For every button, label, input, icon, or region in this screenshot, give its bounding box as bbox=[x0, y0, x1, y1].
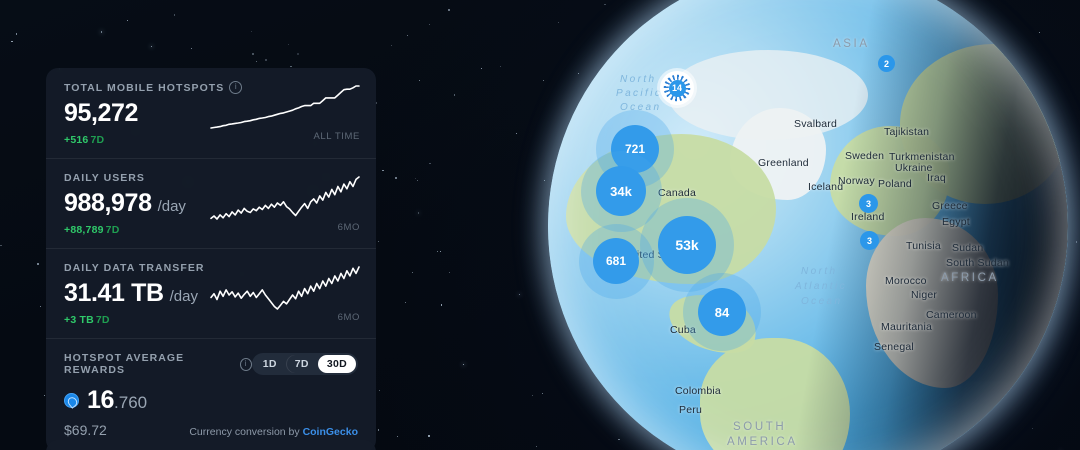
credit-prefix: Currency conversion by bbox=[189, 426, 302, 438]
hotspot-cluster-3[interactable]: 3 bbox=[860, 231, 879, 250]
sparkline-daily-data-transfer: 6MO bbox=[210, 263, 360, 321]
hotspot-cluster-53k[interactable]: 53k bbox=[658, 216, 716, 274]
stat-delta-period: 7D bbox=[96, 314, 110, 326]
star bbox=[379, 390, 380, 391]
map-label-greece: Greece bbox=[932, 200, 968, 212]
range-option-1d[interactable]: 1D bbox=[254, 355, 286, 373]
star bbox=[415, 178, 416, 179]
stat-unit: /day bbox=[170, 288, 198, 305]
map-label-svalbard: Svalbard bbox=[794, 118, 837, 130]
map-label-america: AMERICA bbox=[727, 436, 798, 448]
next-card-peek[interactable] bbox=[46, 440, 376, 450]
cluster-count: 34k bbox=[610, 184, 632, 199]
hotspot-cluster-681[interactable]: 681 bbox=[593, 238, 639, 284]
stat-card-daily-users[interactable]: DAILY USERS 988,978 /day +88,7897D 6MO bbox=[46, 158, 376, 248]
star bbox=[174, 14, 175, 15]
stat-title: TOTAL MOBILE HOTSPOTS bbox=[64, 82, 224, 94]
star bbox=[448, 9, 450, 11]
sparkline-daily-users: 6MO bbox=[210, 173, 360, 231]
star bbox=[536, 446, 537, 447]
stat-title: DAILY USERS bbox=[64, 172, 145, 184]
star bbox=[16, 33, 17, 34]
star bbox=[265, 59, 267, 61]
star bbox=[290, 66, 291, 67]
map-label-south-sudan: South Sudan bbox=[946, 257, 1009, 269]
rewards-title-group: HOTSPOT AVERAGE REWARDS i bbox=[64, 352, 252, 376]
map-label-colombia: Colombia bbox=[675, 385, 721, 397]
rewards-title: HOTSPOT AVERAGE REWARDS bbox=[64, 352, 235, 376]
stats-panel: TOTAL MOBILE HOTSPOTS i 95,272 +5167D AL… bbox=[46, 68, 376, 450]
currency-conversion-credit: Currency conversion by CoinGecko bbox=[189, 426, 358, 438]
star bbox=[440, 251, 441, 252]
map-label-north: North bbox=[801, 266, 837, 277]
star bbox=[437, 251, 438, 252]
map-label-sudan: Sudan bbox=[952, 242, 983, 254]
star bbox=[378, 429, 379, 430]
map-label-morocco: Morocco bbox=[885, 275, 927, 287]
map-label-sweden: Sweden bbox=[845, 150, 884, 162]
stat-card-total-mobile-hotspots[interactable]: TOTAL MOBILE HOTSPOTS i 95,272 +5167D AL… bbox=[46, 68, 376, 158]
helium-token-icon bbox=[64, 393, 79, 408]
range-option-30d[interactable]: 30D bbox=[318, 355, 356, 373]
star bbox=[542, 393, 543, 394]
stat-value: 988,978 bbox=[64, 189, 152, 218]
star bbox=[429, 163, 430, 164]
star bbox=[418, 212, 419, 213]
hotspot-cluster-2[interactable]: 2 bbox=[878, 55, 895, 72]
star bbox=[417, 180, 418, 181]
cluster-count: 14 bbox=[669, 80, 686, 97]
sparkline-svg bbox=[210, 173, 360, 223]
star bbox=[454, 94, 455, 95]
hotspot-cluster-3[interactable]: 3 bbox=[859, 194, 878, 213]
rewards-header: HOTSPOT AVERAGE REWARDS i 1D7D30D bbox=[64, 352, 358, 376]
sparkline-path bbox=[211, 177, 359, 219]
hotspot-cluster-84[interactable]: 84 bbox=[698, 288, 746, 336]
map-label-iraq: Iraq bbox=[927, 172, 946, 184]
stat-delta-value: +516 bbox=[64, 134, 88, 146]
cluster-count: 53k bbox=[675, 237, 698, 253]
map-label-niger: Niger bbox=[911, 289, 937, 301]
sparkline-svg bbox=[210, 82, 360, 132]
globe-sphere: NorthPacificOceanASIASvalbardGreenlandIc… bbox=[548, 0, 1068, 450]
cluster-count: 681 bbox=[606, 254, 626, 268]
rewards-amount-integer: 16 bbox=[87, 386, 114, 415]
map-label-senegal: Senegal bbox=[874, 341, 914, 353]
star bbox=[397, 436, 398, 437]
stat-card-daily-data-transfer[interactable]: DAILY DATA TRANSFER 31.41 TB /day +3 TB7… bbox=[46, 248, 376, 338]
star bbox=[395, 177, 397, 179]
cluster-count: 3 bbox=[866, 199, 871, 209]
cluster-count: 2 bbox=[884, 59, 889, 69]
map-label-pacific: Pacific bbox=[616, 88, 662, 99]
cluster-count: 84 bbox=[715, 305, 729, 320]
star bbox=[40, 306, 41, 307]
star bbox=[412, 272, 413, 273]
cluster-count: 3 bbox=[867, 236, 872, 246]
stat-unit: /day bbox=[158, 198, 186, 215]
coingecko-link[interactable]: CoinGecko bbox=[303, 426, 358, 438]
map-label-asia: ASIA bbox=[833, 38, 870, 50]
hotspot-cluster-badge-icon[interactable]: 14 bbox=[660, 71, 694, 105]
cluster-count: 721 bbox=[625, 142, 645, 156]
map-label-ocean: Ocean bbox=[801, 296, 842, 307]
star bbox=[288, 44, 289, 45]
sparkline-path bbox=[211, 86, 359, 128]
sparkline-range-label: 6MO bbox=[338, 222, 360, 233]
stat-title: DAILY DATA TRANSFER bbox=[64, 262, 205, 274]
star bbox=[101, 31, 102, 32]
hotspot-average-rewards-card: HOTSPOT AVERAGE REWARDS i 1D7D30D 16 .76… bbox=[46, 338, 376, 450]
star bbox=[463, 364, 464, 365]
range-option-7d[interactable]: 7D bbox=[286, 355, 318, 373]
stat-value: 31.41 TB bbox=[64, 279, 164, 308]
star bbox=[297, 53, 299, 55]
globe-visualization[interactable]: NorthPacificOceanASIASvalbardGreenlandIc… bbox=[548, 0, 1068, 450]
map-label-tajikistan: Tajikistan bbox=[884, 126, 929, 138]
sparkline-total-mobile-hotspots: ALL TIME bbox=[210, 82, 360, 140]
map-label-north: North bbox=[620, 74, 656, 85]
map-label-atlantic: Atlantic bbox=[795, 281, 847, 292]
rewards-amount-row: 16 .760 bbox=[64, 386, 358, 415]
stat-delta-period: 7D bbox=[90, 134, 104, 146]
map-label-south: SOUTH bbox=[733, 421, 786, 433]
map-label-peru: Peru bbox=[679, 404, 702, 416]
map-label-mauritania: Mauritania bbox=[881, 321, 932, 333]
star bbox=[441, 304, 442, 305]
map-label-poland: Poland bbox=[878, 178, 912, 190]
star bbox=[428, 435, 429, 436]
map-label-norway: Norway bbox=[838, 175, 875, 187]
rewards-footer: $69.72 Currency conversion by CoinGecko bbox=[64, 422, 358, 438]
app-root: NorthPacificOceanASIASvalbardGreenlandIc… bbox=[0, 0, 1080, 450]
map-label-greenland: Greenland bbox=[758, 157, 809, 169]
map-label-tunisia: Tunisia bbox=[906, 240, 941, 252]
rewards-amount-decimal: .760 bbox=[114, 393, 147, 413]
map-label-egypt: Egypt bbox=[942, 216, 970, 228]
map-label-cameroon: Cameroon bbox=[926, 309, 977, 321]
sparkline-path bbox=[211, 267, 359, 309]
map-label-africa: AFRICA bbox=[941, 272, 999, 284]
sparkline-range-label: ALL TIME bbox=[313, 131, 360, 142]
star bbox=[500, 66, 501, 67]
sparkline-range-label: 6MO bbox=[338, 312, 360, 323]
star bbox=[191, 48, 192, 49]
star bbox=[44, 395, 45, 396]
star bbox=[37, 263, 39, 265]
stat-delta-value: +88,789 bbox=[64, 224, 104, 236]
stat-value: 95,272 bbox=[64, 99, 138, 128]
hotspot-cluster-34k[interactable]: 34k bbox=[596, 166, 646, 216]
stat-delta-value: +3 TB bbox=[64, 314, 94, 326]
stat-delta-period: 7D bbox=[106, 224, 120, 236]
star bbox=[429, 24, 430, 25]
sparkline-svg bbox=[210, 263, 360, 313]
rewards-usd-value: $69.72 bbox=[64, 422, 107, 438]
range-toggle[interactable]: 1D7D30D bbox=[252, 353, 358, 375]
info-icon[interactable]: i bbox=[240, 358, 252, 371]
